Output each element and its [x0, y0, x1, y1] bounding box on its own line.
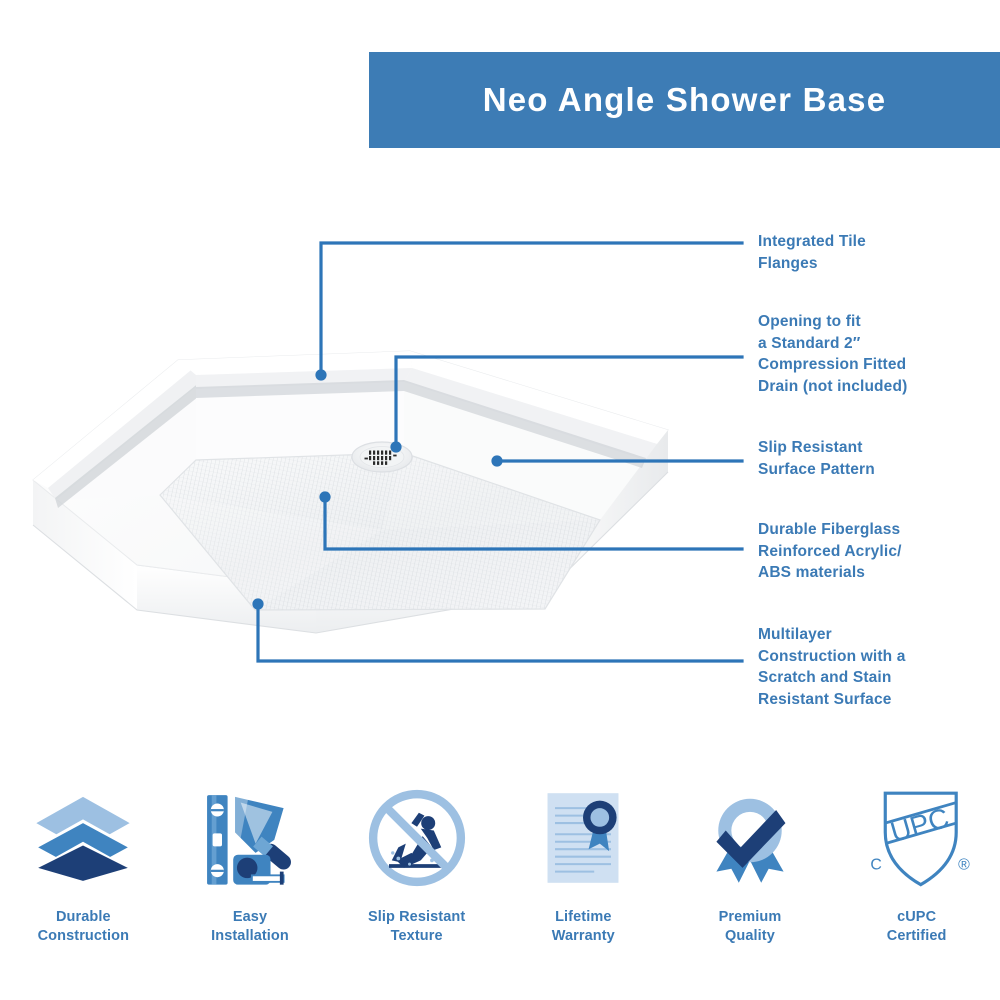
callout-label-drain-opening: Opening to fit a Standard 2″ Compression…: [758, 311, 907, 397]
callout-label-integrated-tile-flanges: Integrated Tile Flanges: [758, 231, 866, 274]
feature-easy-installation: Easy Installation: [175, 778, 325, 946]
feature-lifetime-warranty: Lifetime Warranty: [508, 778, 658, 946]
feature-cupc-certified: UPC C ® cUPC Certified: [842, 778, 992, 946]
no-slip-warning-icon: [357, 778, 477, 898]
stacked-layers-icon: [23, 778, 143, 898]
product-illustration: [0, 320, 730, 680]
feature-caption: Durable Construction: [38, 908, 129, 946]
feature-durable-construction: Durable Construction: [8, 778, 158, 946]
feature-caption: Lifetime Warranty: [552, 908, 615, 946]
title-banner: Neo Angle Shower Base: [369, 52, 1000, 148]
feature-badges-row: Durable Construction: [0, 778, 1000, 978]
callout-label-slip-resistant-surface-pattern: Slip Resistant Surface Pattern: [758, 437, 875, 480]
drain-grate: [352, 442, 412, 472]
upc-shield-icon: UPC C ®: [857, 778, 977, 898]
callout-label-multilayer-construction: Multilayer Construction with a Scratch a…: [758, 624, 906, 710]
feature-caption: cUPC Certified: [887, 908, 947, 946]
cupc-c-mark: C: [870, 857, 881, 874]
feature-slip-resistant-texture: Slip Resistant Texture: [342, 778, 492, 946]
page-title: Neo Angle Shower Base: [483, 81, 887, 119]
feature-caption: Easy Installation: [211, 908, 289, 946]
level-and-trowel-icon: [190, 778, 310, 898]
infographic-canvas: Neo Angle Shower Base: [0, 0, 1000, 1000]
certificate-ribbon-icon: [523, 778, 643, 898]
feature-caption: Slip Resistant Texture: [368, 908, 465, 946]
checkmark-rosette-icon: [690, 778, 810, 898]
feature-caption: Premium Quality: [719, 908, 782, 946]
feature-premium-quality: Premium Quality: [675, 778, 825, 946]
callout-label-durable-fiberglass-materials: Durable Fiberglass Reinforced Acrylic/ A…: [758, 519, 902, 584]
cupc-registered-mark: ®: [958, 857, 970, 874]
